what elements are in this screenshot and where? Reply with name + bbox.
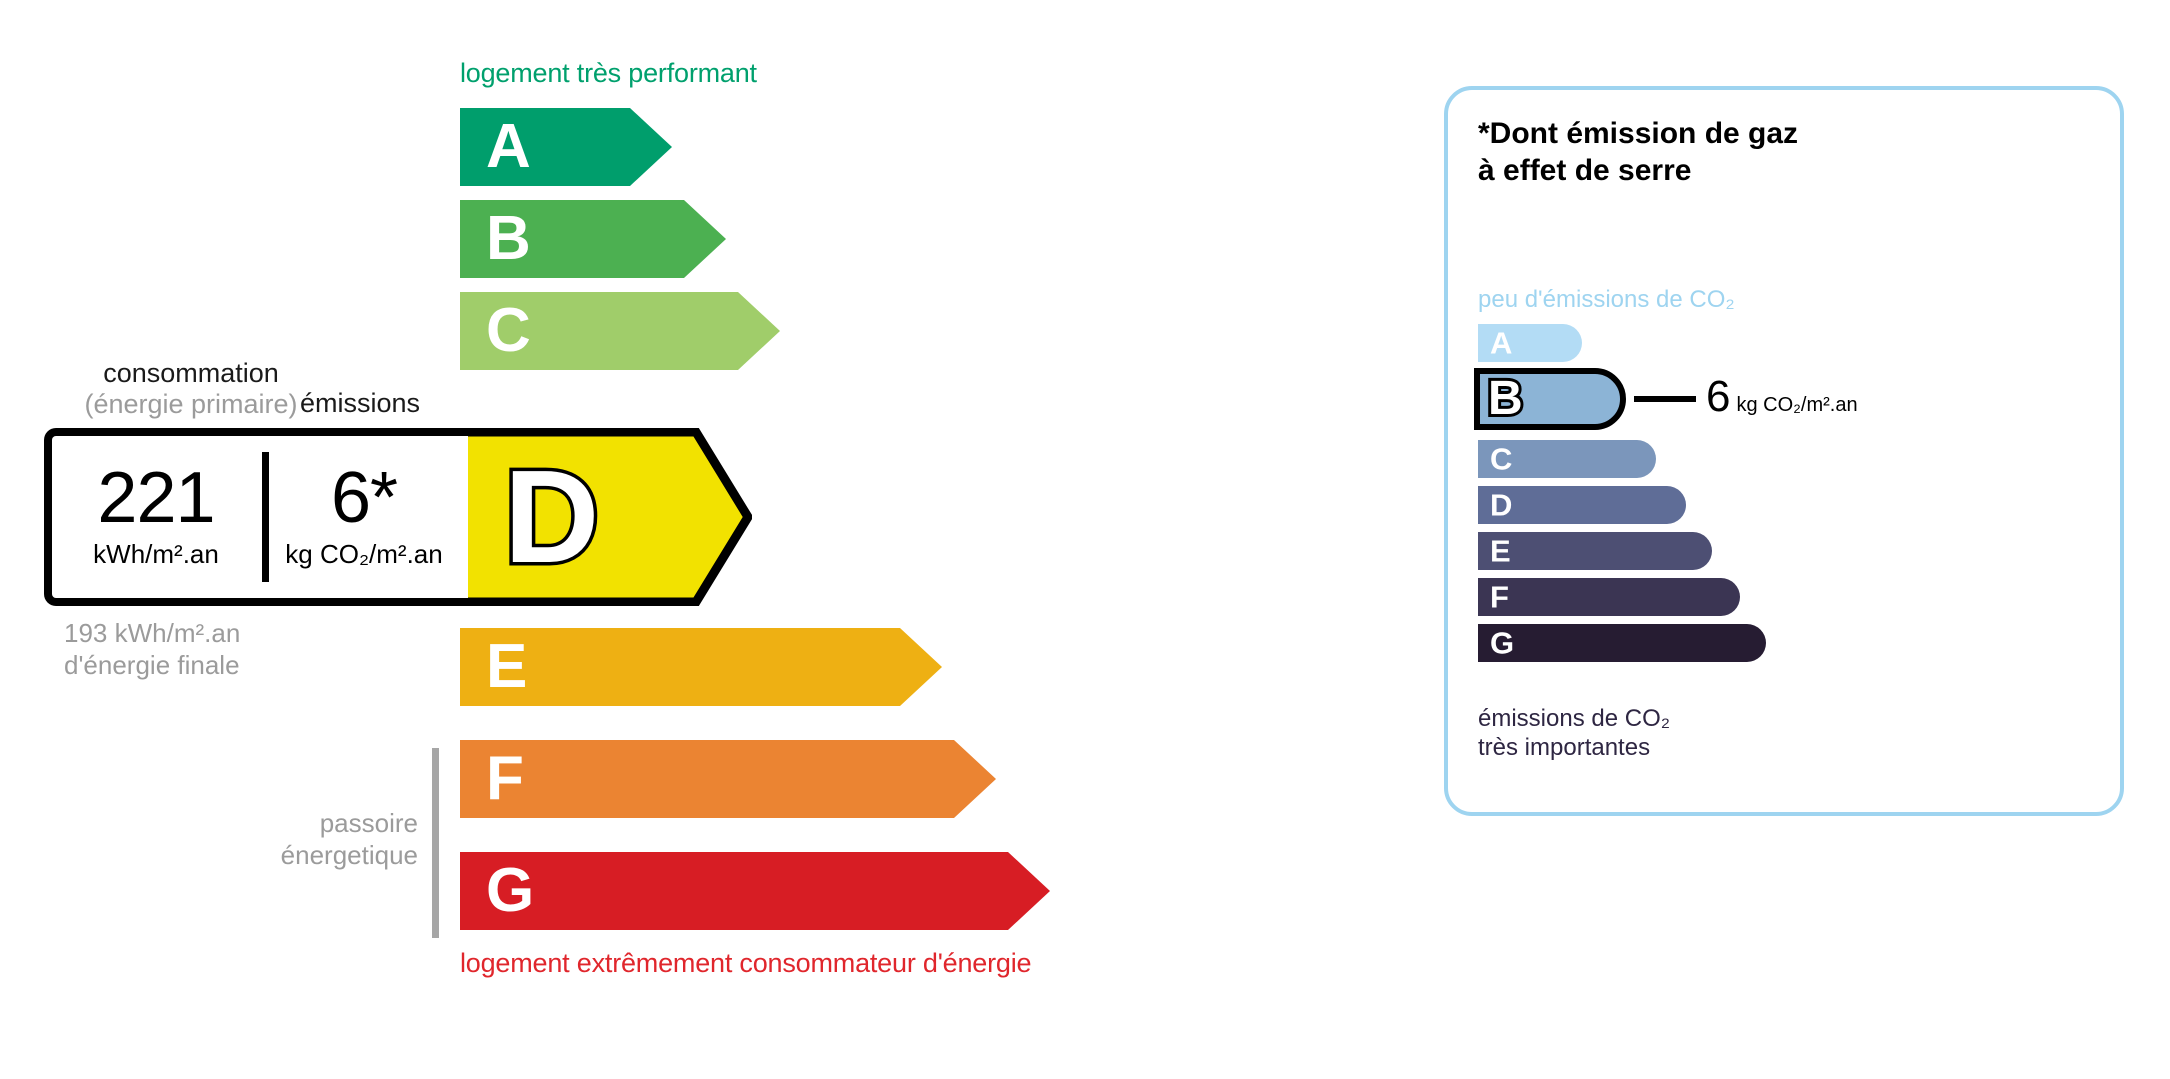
co2-bottom-caption-line2: très importantes bbox=[1478, 733, 1670, 762]
co2-value-number: 6 bbox=[1706, 372, 1730, 421]
co2-class-bar-g bbox=[1478, 624, 1766, 662]
co2-bottom-caption: émissions de CO₂ très importantes bbox=[1478, 704, 1670, 763]
co2-class-row-b-selected[interactable]: B bbox=[1474, 368, 1626, 430]
energy-class-arrow-e bbox=[460, 628, 942, 706]
emission-value: 6* bbox=[331, 464, 397, 532]
energy-class-letter-f: F bbox=[486, 748, 524, 810]
passoire-bracket bbox=[432, 748, 439, 938]
energy-bottom-caption: logement extrêmement consommateur d'éner… bbox=[460, 948, 1031, 979]
energy-class-row-a[interactable]: A bbox=[460, 108, 672, 186]
co2-class-letter-f: F bbox=[1490, 582, 1509, 613]
co2-class-bar-e bbox=[1478, 532, 1712, 570]
co2-value-unit: kg CO₂/m².an bbox=[1736, 394, 1857, 416]
co2-class-letter-b: B bbox=[1488, 375, 1523, 423]
consumption-header-line2: (énergie primaire) bbox=[56, 389, 326, 420]
energy-class-row-b[interactable]: B bbox=[460, 200, 726, 278]
co2-class-letter-d: D bbox=[1490, 490, 1512, 521]
consumption-unit: kWh/m².an bbox=[93, 539, 219, 570]
energy-class-letter-d: D bbox=[504, 451, 599, 583]
consumption-value-cell: 221 kWh/m².an bbox=[52, 436, 260, 598]
energy-class-row-f[interactable]: F bbox=[460, 740, 996, 818]
co2-leader-line bbox=[1634, 396, 1696, 402]
co2-class-row-f[interactable]: F bbox=[1478, 578, 1740, 616]
energy-class-row-c[interactable]: C bbox=[460, 292, 780, 370]
energy-top-caption: logement très performant bbox=[460, 58, 757, 89]
co2-class-letter-c: C bbox=[1490, 444, 1512, 475]
energy-class-letter-b: B bbox=[486, 208, 531, 270]
emission-value-cell: 6* kg CO₂/m².an bbox=[260, 436, 468, 598]
co2-panel-title: *Dont émission de gaz à effet de serre bbox=[1478, 116, 1798, 189]
co2-class-bar-f bbox=[1478, 578, 1740, 616]
final-energy-note: 193 kWh/m².an d'énergie finale bbox=[64, 618, 240, 681]
energy-class-letter-g: G bbox=[486, 860, 534, 922]
co2-value-label: 6kg CO₂/m².an bbox=[1706, 375, 1858, 419]
passoire-line2: énergetique bbox=[150, 840, 418, 872]
energy-class-row-d-selected[interactable]: D bbox=[460, 428, 752, 606]
energy-class-row-g[interactable]: G bbox=[460, 852, 1050, 930]
co2-title-line2: à effet de serre bbox=[1478, 153, 1798, 190]
energy-class-letter-a: A bbox=[486, 116, 531, 178]
co2-emissions-panel: *Dont émission de gaz à effet de serre p… bbox=[1444, 86, 2124, 816]
co2-title-line1: *Dont émission de gaz bbox=[1478, 116, 1798, 153]
emission-unit: kg CO₂/m².an bbox=[285, 539, 442, 570]
co2-top-caption: peu d'émissions de CO₂ bbox=[1478, 286, 1735, 314]
consumption-header-line1: consommation bbox=[103, 358, 279, 388]
final-energy-line2: d'énergie finale bbox=[64, 650, 240, 682]
energy-class-arrow-g bbox=[460, 852, 1050, 930]
passoire-label: passoire énergetique bbox=[150, 808, 418, 871]
consumption-value: 221 bbox=[97, 464, 214, 532]
emissions-header: émissions bbox=[300, 388, 420, 419]
passoire-line1: passoire bbox=[150, 808, 418, 840]
energy-class-letter-e: E bbox=[486, 636, 527, 698]
energy-class-letter-c: C bbox=[486, 300, 531, 362]
co2-bottom-caption-line1: émissions de CO₂ bbox=[1478, 704, 1670, 733]
co2-class-row-c[interactable]: C bbox=[1478, 440, 1656, 478]
value-box: 221 kWh/m².an 6* kg CO₂/m².an bbox=[44, 428, 468, 606]
co2-class-row-d[interactable]: D bbox=[1478, 486, 1686, 524]
co2-class-letter-a: A bbox=[1490, 328, 1512, 359]
co2-class-row-g[interactable]: G bbox=[1478, 624, 1766, 662]
co2-class-letter-g: G bbox=[1490, 628, 1514, 659]
co2-class-row-a[interactable]: A bbox=[1478, 324, 1582, 362]
energy-performance-chart: logement très performant A B C D E F G l… bbox=[0, 0, 1380, 1079]
energy-class-arrow-f bbox=[460, 740, 996, 818]
co2-class-letter-e: E bbox=[1490, 536, 1511, 567]
energy-class-row-e[interactable]: E bbox=[460, 628, 942, 706]
consumption-header: consommation (énergie primaire) bbox=[56, 358, 326, 420]
co2-class-row-e[interactable]: E bbox=[1478, 532, 1712, 570]
final-energy-line1: 193 kWh/m².an bbox=[64, 618, 240, 650]
